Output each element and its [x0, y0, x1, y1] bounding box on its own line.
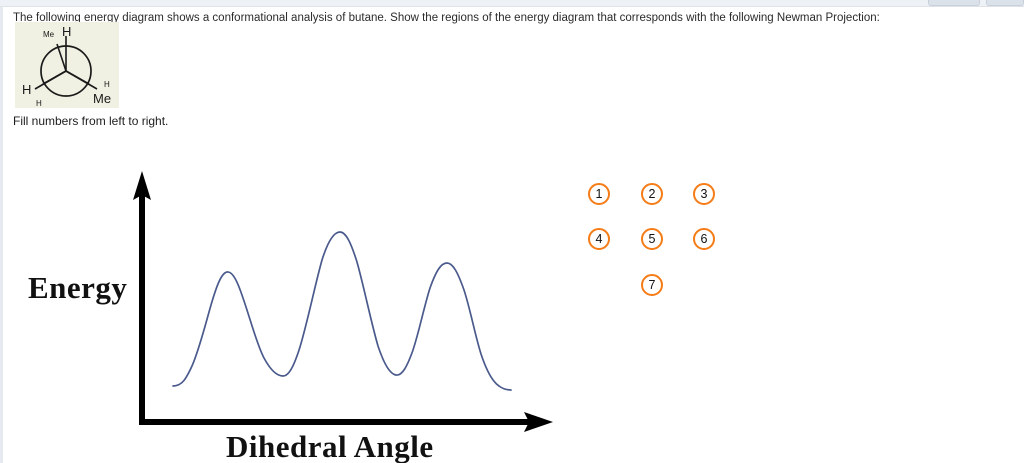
energy-curve: [173, 232, 511, 390]
number-token-7[interactable]: 7: [641, 274, 663, 296]
newman-projection-svg: Me H H H H Me: [15, 22, 119, 108]
number-token-1[interactable]: 1: [588, 183, 610, 205]
number-token-6[interactable]: 6: [693, 228, 715, 250]
x-axis-label: Dihedral Angle: [226, 429, 434, 463]
page-root: The following energy diagram shows a con…: [0, 0, 1024, 463]
newman-label-h-right: H: [104, 80, 110, 89]
energy-diagram: [0, 150, 580, 463]
energy-diagram-svg: [0, 150, 580, 463]
chrome-pill-right: [986, 0, 1024, 6]
fill-instruction: Fill numbers from left to right.: [13, 114, 168, 129]
browser-chrome-strip: [0, 0, 1024, 7]
newman-label-me-top: Me: [43, 30, 55, 39]
number-token-3[interactable]: 3: [693, 183, 715, 205]
number-token-2[interactable]: 2: [641, 183, 663, 205]
number-token-5[interactable]: 5: [641, 228, 663, 250]
y-axis-label: Energy: [28, 270, 127, 306]
number-token-4[interactable]: 4: [588, 228, 610, 250]
question-prompt: The following energy diagram shows a con…: [13, 11, 1011, 25]
newman-label-h-top: H: [62, 24, 71, 39]
newman-projection-image: Me H H H H Me: [15, 22, 119, 108]
number-token-group: 1 2 3 4 5 6 7: [585, 180, 745, 310]
newman-label-h-lower-left: H: [36, 99, 42, 108]
newman-label-h-left: H: [22, 82, 31, 97]
chrome-pill-left: [928, 0, 980, 6]
newman-label-me-lower-right: Me: [93, 91, 111, 106]
